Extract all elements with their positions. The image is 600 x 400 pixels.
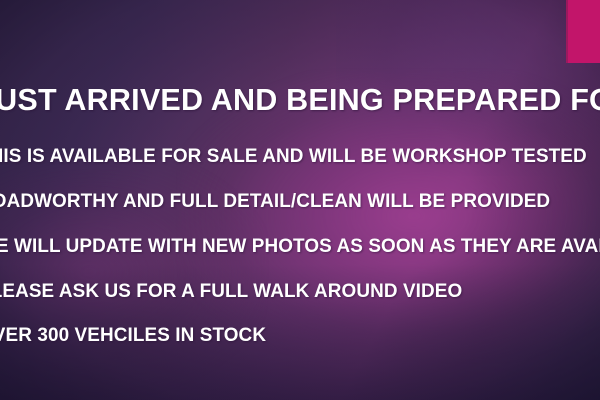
slide-body-line-2: ROADWORTHY AND FULL DETAIL/CLEAN WILL BE…	[0, 190, 550, 213]
slide-canvas: JUST ARRIVED AND BEING PREPARED FOR SALE…	[0, 0, 600, 400]
slide-body-line-5: OVER 300 VEHCILES IN STOCK	[0, 324, 266, 347]
text-layer: JUST ARRIVED AND BEING PREPARED FOR SALE…	[0, 0, 600, 400]
slide-body-line-3: WE WILL UPDATE WITH NEW PHOTOS AS SOON A…	[0, 235, 600, 258]
slide-headline: JUST ARRIVED AND BEING PREPARED FOR SALE	[0, 82, 600, 118]
slide-body-line-4: PLEASE ASK US FOR A FULL WALK AROUND VID…	[0, 280, 462, 303]
slide-body-line-1: THIS IS AVAILABLE FOR SALE AND WILL BE W…	[0, 145, 587, 168]
